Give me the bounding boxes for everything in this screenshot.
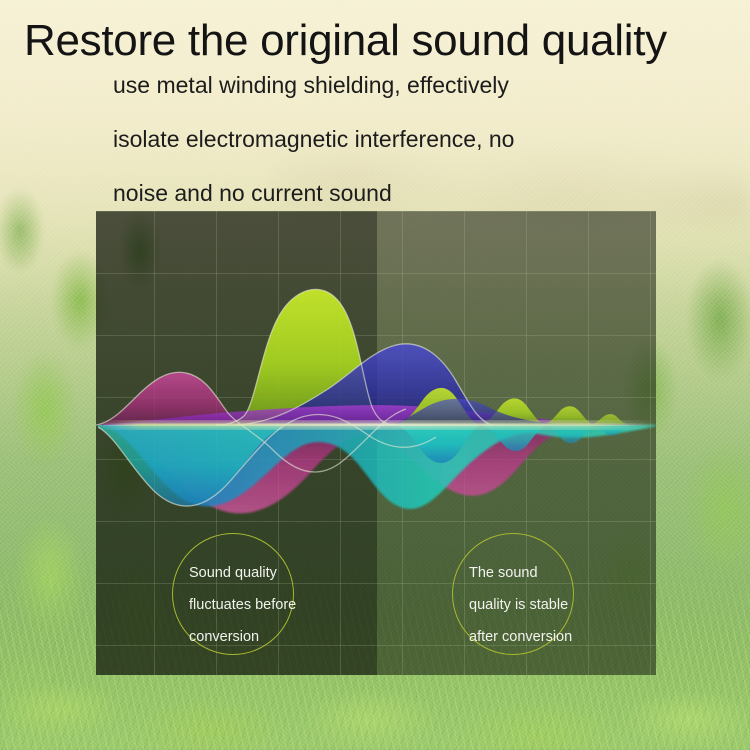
- headline-line-2: isolate electromagnetic interference, no: [113, 126, 514, 153]
- annotation-left-line-3: conversion: [189, 623, 259, 651]
- waveform-panel: Sound quality fluctuates before conversi…: [96, 211, 656, 675]
- headline-line-3: noise and no current sound: [113, 180, 392, 207]
- annotation-right-line-1: The sound: [469, 559, 538, 587]
- banner-root: Restore the original sound quality use m…: [0, 0, 750, 750]
- headline-title: Restore the original sound quality: [24, 16, 667, 66]
- annotation-left-line-2: fluctuates before: [189, 591, 296, 619]
- annotation-right-line-2: quality is stable: [469, 591, 568, 619]
- annotation-left-line-1: Sound quality: [189, 559, 277, 587]
- annotation-right-line-3: after conversion: [469, 623, 572, 651]
- wave-core-line: [96, 424, 656, 426]
- headline-line-1: use metal winding shielding, effectively: [113, 72, 509, 99]
